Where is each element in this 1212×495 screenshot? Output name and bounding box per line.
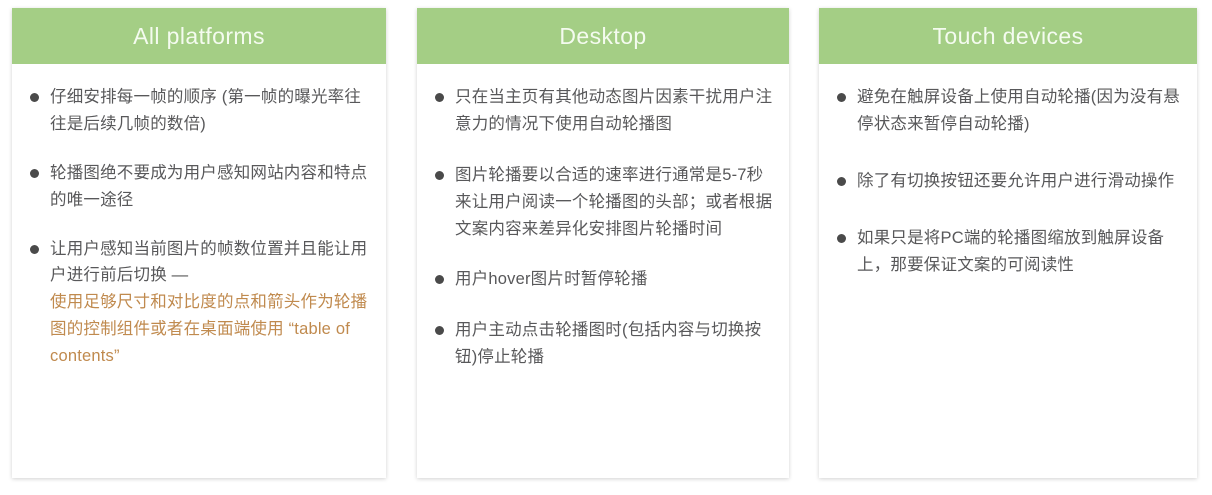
- list-item-accent-text: 使用足够尺寸和对比度的点和箭头作为轮播图的控制组件或者在桌面端使用 “table…: [50, 289, 370, 370]
- card-body-desktop: 只在当主页有其他动态图片因素干扰用户注意力的情况下使用自动轮播图 图片轮播要以合…: [417, 64, 789, 478]
- list-item: 除了有切换按钮还要允许用户进行滑动操作: [837, 168, 1181, 195]
- bullet-dot-icon: [30, 93, 39, 102]
- card-header-desktop: Desktop: [417, 8, 789, 64]
- list-item: 如果只是将PC端的轮播图缩放到触屏设备上，那要保证文案的可阅读性: [837, 225, 1181, 279]
- list-item: 只在当主页有其他动态图片因素干扰用户注意力的情况下使用自动轮播图: [435, 84, 773, 138]
- list-item-text: 避免在触屏设备上使用自动轮播(因为没有悬停状态来暂停自动轮播): [857, 84, 1181, 138]
- card-desktop: Desktop 只在当主页有其他动态图片因素干扰用户注意力的情况下使用自动轮播图…: [417, 8, 789, 478]
- list-item: 避免在触屏设备上使用自动轮播(因为没有悬停状态来暂停自动轮播): [837, 84, 1181, 138]
- list-item-main-text: 让用户感知当前图片的帧数位置并且能让用户进行前后切换 —: [50, 240, 367, 285]
- bullet-dot-icon: [837, 234, 846, 243]
- bullet-dot-icon: [435, 93, 444, 102]
- list-item: 让用户感知当前图片的帧数位置并且能让用户进行前后切换 — 使用足够尺寸和对比度的…: [30, 236, 370, 370]
- bullet-dot-icon: [435, 171, 444, 180]
- card-title: Touch devices: [933, 25, 1084, 48]
- list-item: 仔细安排每一帧的顺序 (第一帧的曝光率往往是后续几帧的数倍): [30, 84, 370, 138]
- list-item: 图片轮播要以合适的速率进行通常是5-7秒来让用户阅读一个轮播图的头部；或者根据文…: [435, 162, 773, 243]
- list-item-text: 仔细安排每一帧的顺序 (第一帧的曝光率往往是后续几帧的数倍): [50, 84, 370, 138]
- bullet-dot-icon: [837, 177, 846, 186]
- bullet-dot-icon: [435, 326, 444, 335]
- bullet-dot-icon: [837, 93, 846, 102]
- list-item: 轮播图绝不要成为用户感知网站内容和特点的唯一途径: [30, 160, 370, 214]
- bullet-list: 避免在触屏设备上使用自动轮播(因为没有悬停状态来暂停自动轮播) 除了有切换按钮还…: [837, 84, 1181, 278]
- card-title: All platforms: [133, 25, 265, 48]
- bullet-dot-icon: [30, 169, 39, 178]
- list-item-text: 让用户感知当前图片的帧数位置并且能让用户进行前后切换 — 使用足够尺寸和对比度的…: [50, 236, 370, 370]
- card-touch-devices: Touch devices 避免在触屏设备上使用自动轮播(因为没有悬停状态来暂停…: [819, 8, 1197, 478]
- card-header-touch-devices: Touch devices: [819, 8, 1197, 64]
- card-header-all-platforms: All platforms: [12, 8, 386, 64]
- list-item-text: 只在当主页有其他动态图片因素干扰用户注意力的情况下使用自动轮播图: [455, 84, 773, 138]
- card-title: Desktop: [559, 25, 646, 48]
- bullet-dot-icon: [30, 245, 39, 254]
- list-item-text: 除了有切换按钮还要允许用户进行滑动操作: [857, 168, 1174, 195]
- bullet-list: 只在当主页有其他动态图片因素干扰用户注意力的情况下使用自动轮播图 图片轮播要以合…: [435, 84, 773, 371]
- card-body-touch-devices: 避免在触屏设备上使用自动轮播(因为没有悬停状态来暂停自动轮播) 除了有切换按钮还…: [819, 64, 1197, 478]
- guideline-cards-board: All platforms 仔细安排每一帧的顺序 (第一帧的曝光率往往是后续几帧…: [0, 0, 1212, 495]
- list-item-text: 用户hover图片时暂停轮播: [455, 266, 648, 293]
- list-item: 用户主动点击轮播图时(包括内容与切换按钮)停止轮播: [435, 317, 773, 371]
- list-item-text: 图片轮播要以合适的速率进行通常是5-7秒来让用户阅读一个轮播图的头部；或者根据文…: [455, 162, 773, 243]
- list-item-text: 轮播图绝不要成为用户感知网站内容和特点的唯一途径: [50, 160, 370, 214]
- card-body-all-platforms: 仔细安排每一帧的顺序 (第一帧的曝光率往往是后续几帧的数倍) 轮播图绝不要成为用…: [12, 64, 386, 478]
- list-item-text: 如果只是将PC端的轮播图缩放到触屏设备上，那要保证文案的可阅读性: [857, 225, 1181, 279]
- bullet-dot-icon: [435, 275, 444, 284]
- list-item-text: 用户主动点击轮播图时(包括内容与切换按钮)停止轮播: [455, 317, 773, 371]
- card-all-platforms: All platforms 仔细安排每一帧的顺序 (第一帧的曝光率往往是后续几帧…: [12, 8, 386, 478]
- list-item: 用户hover图片时暂停轮播: [435, 266, 773, 293]
- bullet-list: 仔细安排每一帧的顺序 (第一帧的曝光率往往是后续几帧的数倍) 轮播图绝不要成为用…: [30, 84, 370, 370]
